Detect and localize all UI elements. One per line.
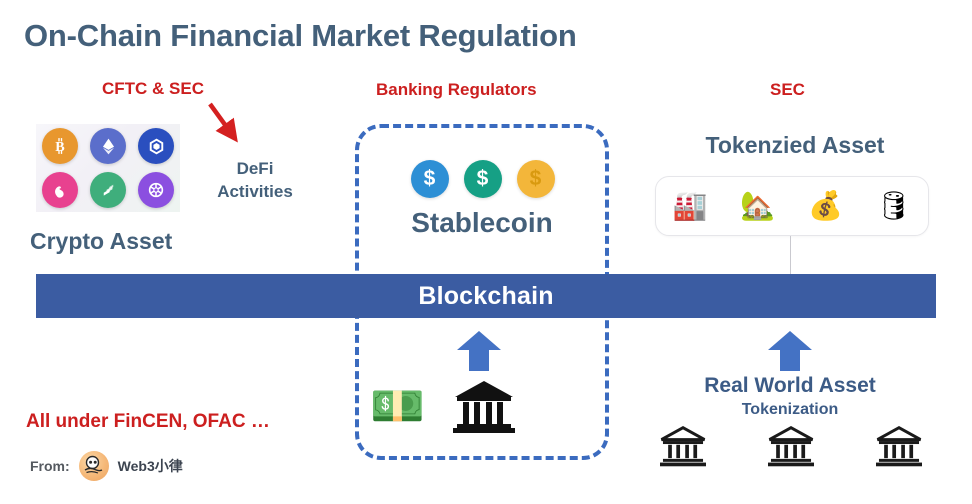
author-handle: Web3小律	[118, 456, 183, 476]
offchain-assets-row: 💵	[370, 378, 570, 436]
tokenized-asset-card: 🏭 🏡 💰 🛢	[655, 176, 929, 236]
bank-icon-1	[660, 425, 706, 469]
defi-line-1: DeFi	[207, 158, 303, 181]
stablecoin-icon-row: $ $ $	[400, 160, 565, 198]
defi-activities-label: DeFi Activities	[207, 158, 303, 204]
slide-canvas: On-Chain Financial Market Regulation CFT…	[0, 0, 972, 504]
blockchain-label: Blockchain	[418, 282, 553, 311]
rwa-title: Real World Asset	[655, 374, 925, 398]
oil-rig-icon: 🛢	[876, 192, 912, 220]
footer-compliance-note: All under FinCEN, OFAC …	[26, 411, 270, 433]
rwa-subtitle: Tokenization	[655, 401, 925, 419]
avatar	[79, 451, 109, 481]
crypto-asset-icon-grid: B	[36, 124, 180, 212]
uniswap-icon	[42, 172, 78, 208]
factory-icon: 🏭	[672, 192, 707, 220]
footer-attribution: From: Web3小律	[30, 451, 183, 481]
regulator-label-cftc-sec: CFTC & SEC	[102, 79, 204, 99]
gold-bars-icon: 💰	[808, 192, 843, 220]
rwa-bank-row	[660, 425, 922, 469]
regulator-label-banking: Banking Regulators	[376, 80, 537, 100]
chainlink-icon	[138, 128, 174, 164]
red-down-arrow-icon	[205, 100, 245, 145]
crypto-asset-caption: Crypto Asset	[30, 228, 172, 255]
blockchain-bar: Blockchain	[36, 274, 936, 318]
bank-icon-3	[876, 425, 922, 469]
compound-icon	[90, 172, 126, 208]
house-icon: 🏡	[740, 192, 775, 220]
ethereum-icon	[90, 128, 126, 164]
page-title: On-Chain Financial Market Regulation	[24, 18, 577, 54]
bank-building-icon	[453, 378, 515, 436]
dollar-banknote-icon: 💵	[370, 385, 425, 429]
tokenized-asset-connector-line	[790, 236, 791, 276]
aave-icon	[138, 172, 174, 208]
svg-text:B: B	[55, 139, 65, 155]
bank-icon-2	[768, 425, 814, 469]
from-label: From:	[30, 458, 70, 474]
stablecoin-gold-icon: $	[517, 160, 555, 198]
regulator-label-sec: SEC	[770, 80, 805, 100]
stablecoin-green-icon: $	[464, 160, 502, 198]
bitcoin-icon: B	[42, 128, 78, 164]
up-arrow-rwa-icon	[767, 330, 813, 372]
defi-line-2: Activities	[207, 181, 303, 204]
stablecoin-caption: Stablecoin	[382, 207, 582, 239]
tokenized-asset-title: Tokenzied Asset	[650, 132, 940, 159]
stablecoin-blue-icon: $	[411, 160, 449, 198]
up-arrow-stablecoin-icon	[456, 330, 502, 372]
